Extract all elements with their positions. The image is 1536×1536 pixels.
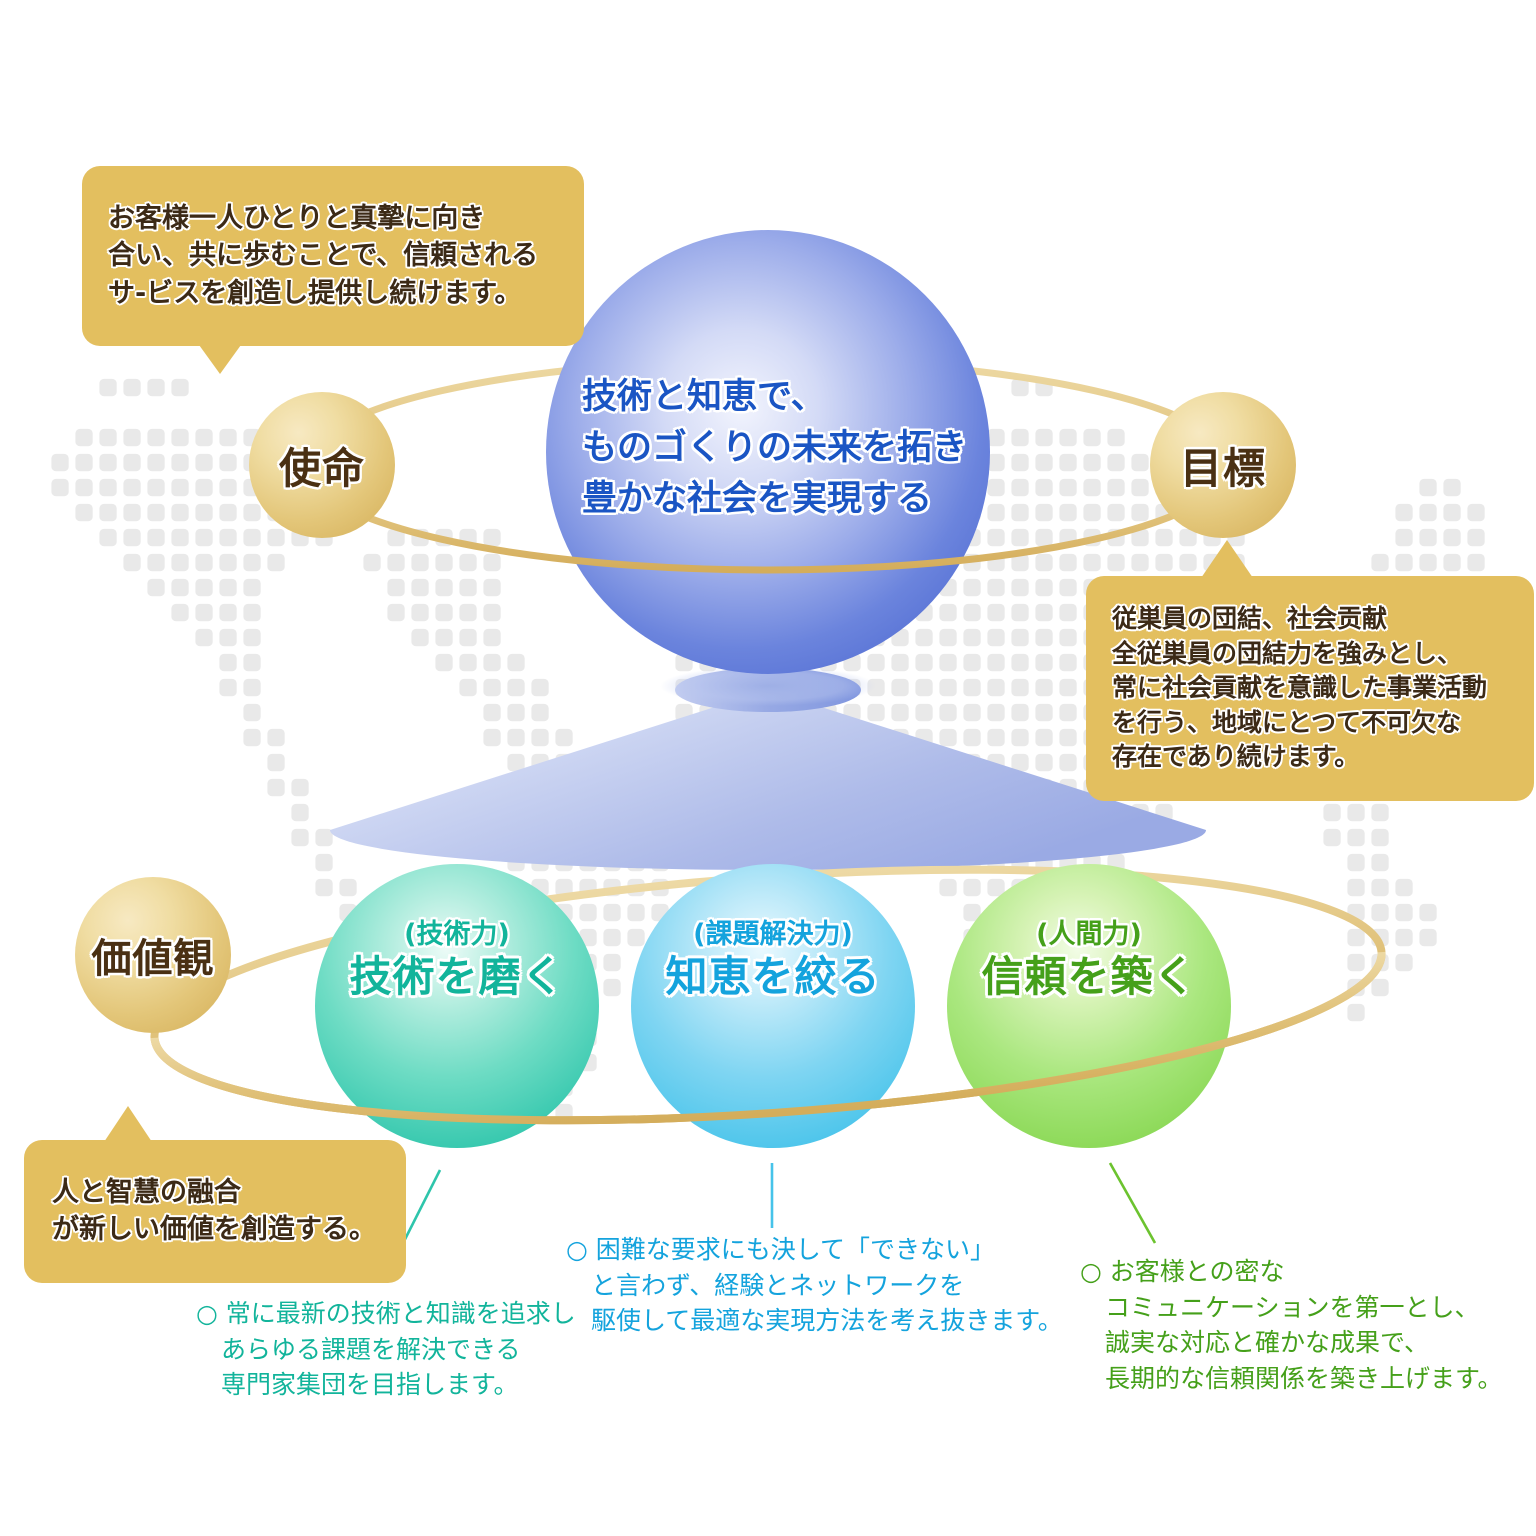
desc-line: ○ 困難な要求にも決して「できない」	[566, 1232, 1063, 1268]
desc-line: 駆使して最適な実現方法を考え抜きます。	[566, 1303, 1063, 1339]
desc-line: 長期的な信頼関係を築き上げます。	[1080, 1361, 1503, 1397]
node-label: 目標	[1180, 435, 1266, 496]
headline-line: 技術と知恵で、	[582, 372, 1002, 423]
mission-callout-tail	[194, 338, 246, 374]
value-bubbles	[315, 864, 1231, 1148]
value-label-tech: (技術力) 技術を磨く	[307, 920, 607, 1000]
mission-callout: お客様一人ひとりと真摯に向き 合い、共に歩むことで、信頼される サ-ビスを創造し…	[82, 166, 584, 346]
desc-human: ○ お客様との密な コミュニケーションを第一とし、 誠実な対応と確かな成果で、 …	[1080, 1254, 1503, 1396]
desc-line: 専門家集団を目指します。	[196, 1367, 576, 1403]
callout-line: を行う、地域にとつて不可欠な	[1112, 708, 1461, 737]
callout-line: 合い、共に歩むことで、信頼される	[108, 240, 538, 271]
desc-line: と言わず、経験とネットワークを	[566, 1268, 1063, 1304]
callout-line: 人と智慧の融合	[52, 1177, 241, 1208]
node-mission[interactable]: 使命	[249, 392, 395, 538]
desc-line: コミュニケーションを第一とし、	[1080, 1290, 1503, 1326]
goal-callout: 従巣員の団結、社会贡献 全従巣員の団結力を強みとし、 常に社会貢献を意識した事業…	[1086, 576, 1534, 801]
value-main: 技術を磨く	[307, 954, 607, 1000]
callout-line: お客様一人ひとりと真摯に向き	[108, 203, 485, 234]
desc-line: あらゆる課題を解決できる	[196, 1332, 576, 1368]
bubble-tech	[315, 864, 599, 1148]
headline-line: ものゴくりの未来を拓き	[582, 423, 1002, 474]
value-sub: (人間力)	[939, 920, 1239, 950]
desc-tech: ○ 常に最新の技術と知識を追求し あらゆる課題を解決できる 専門家集団を目指しま…	[196, 1296, 576, 1403]
callout-line: 存在であり続けます。	[1112, 742, 1359, 771]
callout-line: 常に社会貢献を意識した事業活動	[1112, 673, 1487, 702]
sphere-headline: 技術と知恵で、 ものゴくりの未来を拓き 豊かな社会を実現する	[582, 372, 1002, 524]
bubble-human	[947, 864, 1231, 1148]
callout-line: 全従巣員の団結力を強みとし、	[1112, 639, 1462, 668]
value-main: 信頼を築く	[939, 954, 1239, 1000]
value-main: 知恵を絞る	[623, 954, 923, 1000]
headline-line: 豊かな社会を実現する	[582, 474, 1002, 525]
value-sub: (課題解決力)	[623, 920, 923, 950]
node-label: 使命	[279, 435, 365, 496]
desc-solution: ○ 困難な要求にも決して「できない」 と言わず、経験とネットワークを 駆使して最…	[566, 1232, 1063, 1339]
desc-line: 誠実な対応と確かな成果で、	[1080, 1325, 1503, 1361]
desc-line: ○ 常に最新の技術と知識を追求し	[196, 1296, 576, 1332]
values-callout-tail	[104, 1106, 152, 1142]
callout-line: 従巣員の団結、社会贡献	[1112, 604, 1387, 633]
desc-line: ○ お客様との密な	[1080, 1254, 1503, 1290]
value-label-solution: (課題解決力) 知恵を絞る	[623, 920, 923, 1000]
leader-line-human	[1110, 1163, 1155, 1243]
node-values[interactable]: 価値観	[75, 877, 231, 1033]
values-callout: 人と智慧の融合 が新しい価値を創造する。	[24, 1140, 406, 1283]
node-label: 価値観	[92, 926, 215, 984]
node-goal[interactable]: 目標	[1150, 392, 1296, 538]
vision-diagram: お客様一人ひとりと真摯に向き 合い、共に歩むことで、信頼される サ-ビスを創造し…	[0, 0, 1536, 1536]
value-sub: (技術力)	[307, 920, 607, 950]
value-label-human: (人間力) 信頼を築く	[939, 920, 1239, 1000]
callout-line: サ-ビスを創造し提供し続けます。	[108, 278, 522, 309]
callout-line: が新しい価値を創造する。	[52, 1214, 376, 1245]
goal-callout-tail	[1201, 540, 1253, 578]
